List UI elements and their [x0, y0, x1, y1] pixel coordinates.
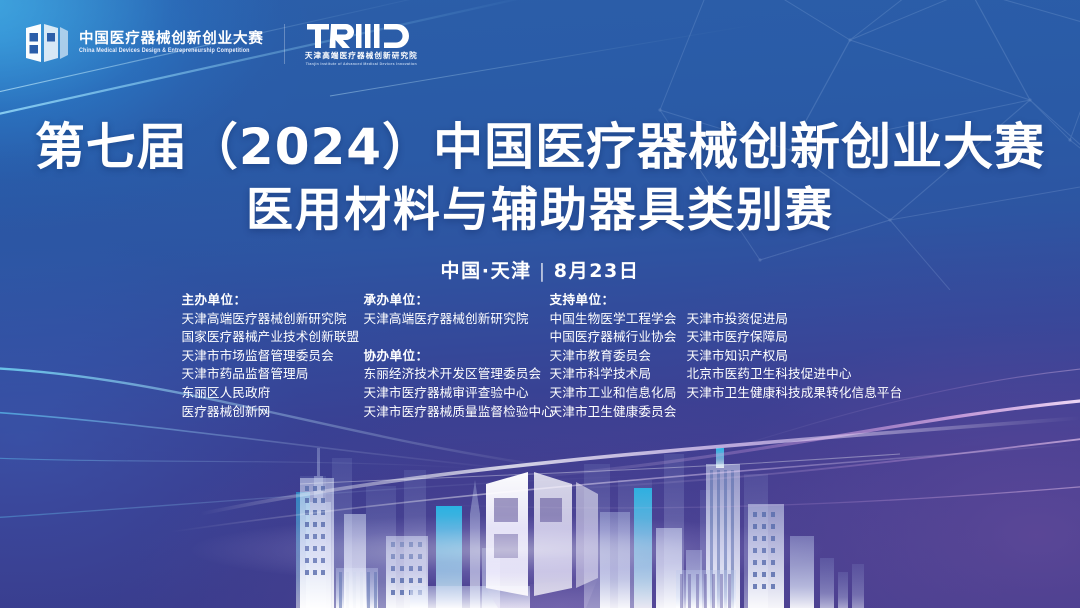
logo-secondary-cn: 天津高端医疗器械创新研究院	[305, 52, 418, 60]
organizer-label: 承办单位：	[364, 291, 550, 310]
support-item: 北京市医药卫生科技促进中心	[687, 365, 899, 384]
host-item: 天津市药品监督管理局	[182, 365, 364, 384]
poster-canvas: 中国医疗器械创新创业大赛 China Medical Devices Desig…	[0, 0, 1080, 608]
coorganizer-item: 天津市医疗器械质量监督检验中心	[364, 403, 550, 422]
host-label: 主办单位：	[182, 291, 364, 310]
support-item: 天津市卫生健康科技成果转化信息平台	[687, 384, 899, 403]
column-spacer	[364, 328, 550, 347]
organizers-column-host: 主办单位： 天津高端医疗器械创新研究院 国家医疗器械产业技术创新联盟 天津市市场…	[182, 291, 364, 421]
organizers-column-support-b: 天津市投资促进局 天津市医疗保障局 天津市知识产权局 北京市医药卫生科技促进中心…	[687, 291, 899, 403]
support-item: 天津市投资促进局	[687, 310, 899, 329]
main-title-line1: 第七届（2024）中国医疗器械创新创业大赛	[0, 118, 1080, 177]
coorganizer-item: 天津市医疗器械审评查验中心	[364, 384, 550, 403]
main-title-line2: 医用材料与辅助器具类别赛	[0, 183, 1080, 238]
support-item: 天津市知识产权局	[687, 347, 899, 366]
contest-logo-monument	[486, 472, 598, 608]
support-label: 支持单位：	[550, 291, 687, 310]
trmd-wordmark-icon	[307, 23, 415, 49]
support-item: 天津市工业和信息化局	[550, 384, 687, 403]
support-item: 天津市卫生健康委员会	[550, 403, 687, 422]
host-item: 国家医疗器械产业技术创新联盟	[182, 328, 364, 347]
support-item: 天津市教育委员会	[550, 347, 687, 366]
logo-divider	[284, 24, 285, 64]
organizers-column-organizer: 承办单位： 天津高端医疗器械创新研究院 协办单位： 东丽经济技术开发区管理委员会…	[364, 291, 550, 421]
host-item: 医疗器械创新网	[182, 403, 364, 422]
support-item: 天津市医疗保障局	[687, 328, 899, 347]
organizers-block: 主办单位： 天津高端医疗器械创新研究院 国家医疗器械产业技术创新联盟 天津市市场…	[0, 291, 1080, 421]
support-item: 中国医疗器械行业协会	[550, 328, 687, 347]
host-item: 天津市市场监督管理委员会	[182, 347, 364, 366]
organizers-column-support-a: 支持单位： 中国生物医学工程学会 中国医疗器械行业协会 天津市教育委员会 天津市…	[550, 291, 687, 421]
coorganizer-label: 协办单位：	[364, 347, 550, 366]
header-logos: 中国医疗器械创新创业大赛 China Medical Devices Desig…	[24, 22, 418, 66]
city-skyline-silhouette	[0, 418, 1080, 608]
logo-secondary: 天津高端医疗器械创新研究院 Tianjin Institute of Advan…	[305, 22, 418, 66]
title-block: 第七届（2024）中国医疗器械创新创业大赛 医用材料与辅助器具类别赛 中国·天津…	[0, 118, 1080, 283]
support-item: 中国生物医学工程学会	[550, 310, 687, 329]
logo-primary-cn: 中国医疗器械创新创业大赛	[79, 32, 264, 47]
host-item: 天津高端医疗器械创新研究院	[182, 310, 364, 329]
support-item: 天津市科学技术局	[550, 365, 687, 384]
event-meta: 中国·天津|8月23日	[0, 256, 1080, 283]
column-spacer	[687, 291, 899, 310]
organizer-item: 天津高端医疗器械创新研究院	[364, 310, 550, 329]
ground-haze	[0, 496, 1080, 586]
logo-secondary-en: Tianjin Institute of Advanced Medical De…	[306, 63, 417, 67]
logo-primary-en: China Medical Devices Design & Entrepren…	[79, 48, 264, 54]
logo-primary: 中国医疗器械创新创业大赛 China Medical Devices Desig…	[24, 22, 264, 64]
meta-separator: |	[539, 260, 547, 282]
coorganizer-item: 东丽经济技术开发区管理委员会	[364, 365, 550, 384]
event-location: 中国·天津	[441, 260, 532, 282]
host-item: 东丽区人民政府	[182, 384, 364, 403]
event-date: 8月23日	[554, 260, 640, 282]
open-door-book-mark-icon	[24, 22, 70, 64]
